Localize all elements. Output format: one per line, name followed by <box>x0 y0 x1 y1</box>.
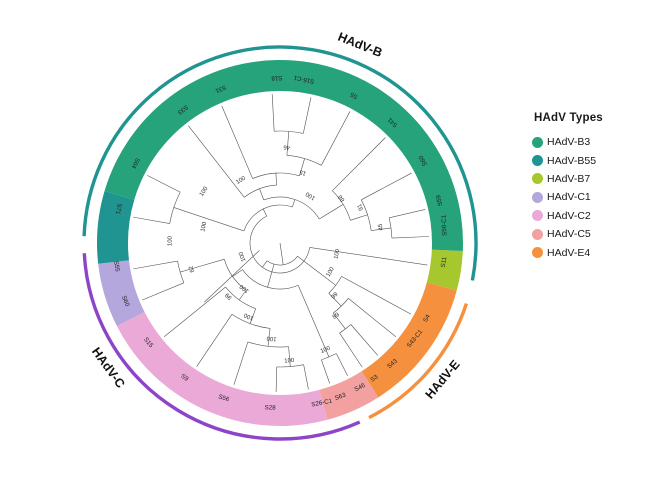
bootstrap-label: 100 <box>320 345 332 355</box>
legend-item-label: HAdV-C5 <box>547 228 591 240</box>
bootstrap-label: 99 <box>224 291 233 300</box>
bootstrap-label: 100 <box>304 190 316 201</box>
branch-radial <box>222 106 253 179</box>
legend-color-swatch <box>532 173 543 184</box>
branch-radial <box>321 111 350 165</box>
branch-radial <box>351 325 378 356</box>
bootstrap-label: 100 <box>243 311 255 321</box>
branch-radial <box>319 209 336 219</box>
branch-radial <box>302 159 305 169</box>
branch-radial <box>234 342 248 385</box>
phylogenetic-tree-figure: S26-C1S28S46S63S56S9S15S60S55S4S43-C1S43… <box>0 0 650 504</box>
legend-color-swatch <box>532 192 543 203</box>
legend-items: HAdV-B3HAdV-B55HAdV-B7HAdV-C1HAdV-C2HAdV… <box>532 133 644 262</box>
bootstrap-label: 100 <box>334 248 342 260</box>
bootstrap-label: 100 <box>235 175 247 186</box>
legend-item-label: HAdV-C1 <box>547 191 591 203</box>
legend-color-swatch <box>532 210 543 221</box>
bootstrap-label: 100 <box>200 221 208 233</box>
branch-radial <box>350 218 358 220</box>
branch-radial <box>298 285 324 346</box>
branch-radial <box>389 209 425 217</box>
branch-radial <box>133 217 169 223</box>
tip-label: S50-C1 <box>441 214 449 236</box>
branch-radial <box>336 204 343 208</box>
branch-radial <box>269 328 270 334</box>
legend-item-label: HAdV-B55 <box>547 155 596 167</box>
legend-item[interactable]: HAdV-C2 <box>532 207 644 225</box>
branch-radial <box>185 211 244 231</box>
clade-label: HAdV-E <box>423 357 463 401</box>
branch-radial <box>340 333 363 367</box>
type-ring-segment <box>97 191 134 264</box>
branch-radial <box>272 94 274 131</box>
branch-radial <box>147 175 180 192</box>
branch-radial <box>288 131 289 143</box>
branch-radial <box>133 261 177 269</box>
branch-radial <box>188 126 244 198</box>
branch-arc <box>250 216 310 273</box>
clade-label: HAdV-C <box>89 345 128 391</box>
branch-radial <box>304 365 309 390</box>
bootstrap-label: 99 <box>331 291 340 300</box>
branch-arc <box>242 270 298 289</box>
tip-label: S28 <box>265 404 277 411</box>
bootstrap-label: 100 <box>238 282 250 293</box>
branch-radial <box>262 265 264 267</box>
tip-label: S18 <box>271 74 283 82</box>
legend-color-swatch <box>532 137 543 148</box>
branch-radial <box>197 314 232 366</box>
branch-radial <box>192 259 225 269</box>
branch-radial <box>142 283 184 300</box>
branch-radial <box>292 203 293 207</box>
branch-radial <box>336 353 347 375</box>
legend: HAdV Types HAdV-B3HAdV-B55HAdV-B7HAdV-C1… <box>532 112 644 262</box>
branch-radial <box>260 189 262 195</box>
bootstrap-label: 100 <box>238 250 247 262</box>
branch-radial <box>289 347 290 355</box>
legend-color-swatch <box>532 247 543 258</box>
bootstrap-label: 100 <box>326 266 337 278</box>
branch-radial <box>276 367 277 392</box>
branch-radial <box>268 282 270 288</box>
bootstrap-label: 15 <box>298 168 307 176</box>
legend-item[interactable]: HAdV-B3 <box>532 133 644 151</box>
clade-label: HAdV-B <box>336 30 384 60</box>
legend-color-swatch <box>532 155 543 166</box>
branch-radial <box>348 298 395 336</box>
bootstrap-label: 88 <box>337 193 346 202</box>
branch-radial <box>332 138 385 191</box>
branch-radial <box>294 199 295 203</box>
legend-item[interactable]: HAdV-C1 <box>532 188 644 206</box>
branch-radial <box>298 256 328 279</box>
branch-radial <box>239 293 244 300</box>
branch-radial <box>269 264 274 281</box>
legend-item-label: HAdV-B3 <box>547 136 590 148</box>
legend-color-swatch <box>532 229 543 240</box>
branch-radial <box>321 360 329 384</box>
legend-item-label: HAdV-E4 <box>547 247 590 259</box>
branch-radial <box>358 215 368 218</box>
branch-radial <box>239 270 242 272</box>
branch-arc <box>244 205 292 231</box>
bootstrap-label: 45 <box>378 223 385 231</box>
legend-item-label: HAdV-B7 <box>547 173 590 185</box>
branch-radial <box>262 194 264 200</box>
legend-item[interactable]: HAdV-E4 <box>532 243 644 261</box>
bootstrap-label: 62 <box>188 264 196 273</box>
branch-radial <box>342 276 411 314</box>
bootstrap-label: 100 <box>284 358 295 365</box>
branch-radial <box>328 279 336 285</box>
branch-radial <box>310 247 428 265</box>
branch-layer <box>133 94 429 392</box>
branch-radial <box>164 287 225 337</box>
branch-radial <box>174 207 185 211</box>
legend-item[interactable]: HAdV-C5 <box>532 225 644 243</box>
branch-radial <box>361 173 411 200</box>
bootstrap-label: 46 <box>283 143 291 149</box>
branch-radial <box>280 243 283 265</box>
branch-radial <box>392 237 429 239</box>
legend-title: HAdV Types <box>534 112 644 124</box>
bootstrap-label: 100 <box>199 186 210 198</box>
branch-radial <box>264 261 267 265</box>
root-stem <box>204 251 259 303</box>
branch-radial <box>263 209 265 213</box>
legend-item-label: HAdV-C2 <box>547 210 591 222</box>
legend-item[interactable]: HAdV-B7 <box>532 170 644 188</box>
legend-item[interactable]: HAdV-B55 <box>532 151 644 169</box>
branch-radial <box>265 213 267 217</box>
branch-radial <box>303 97 311 133</box>
branch-radial <box>338 319 345 329</box>
bootstrap-label: 100 <box>168 235 174 246</box>
bootstrap-label: 100 <box>266 335 277 342</box>
bootstrap-label: 91 <box>357 202 365 211</box>
